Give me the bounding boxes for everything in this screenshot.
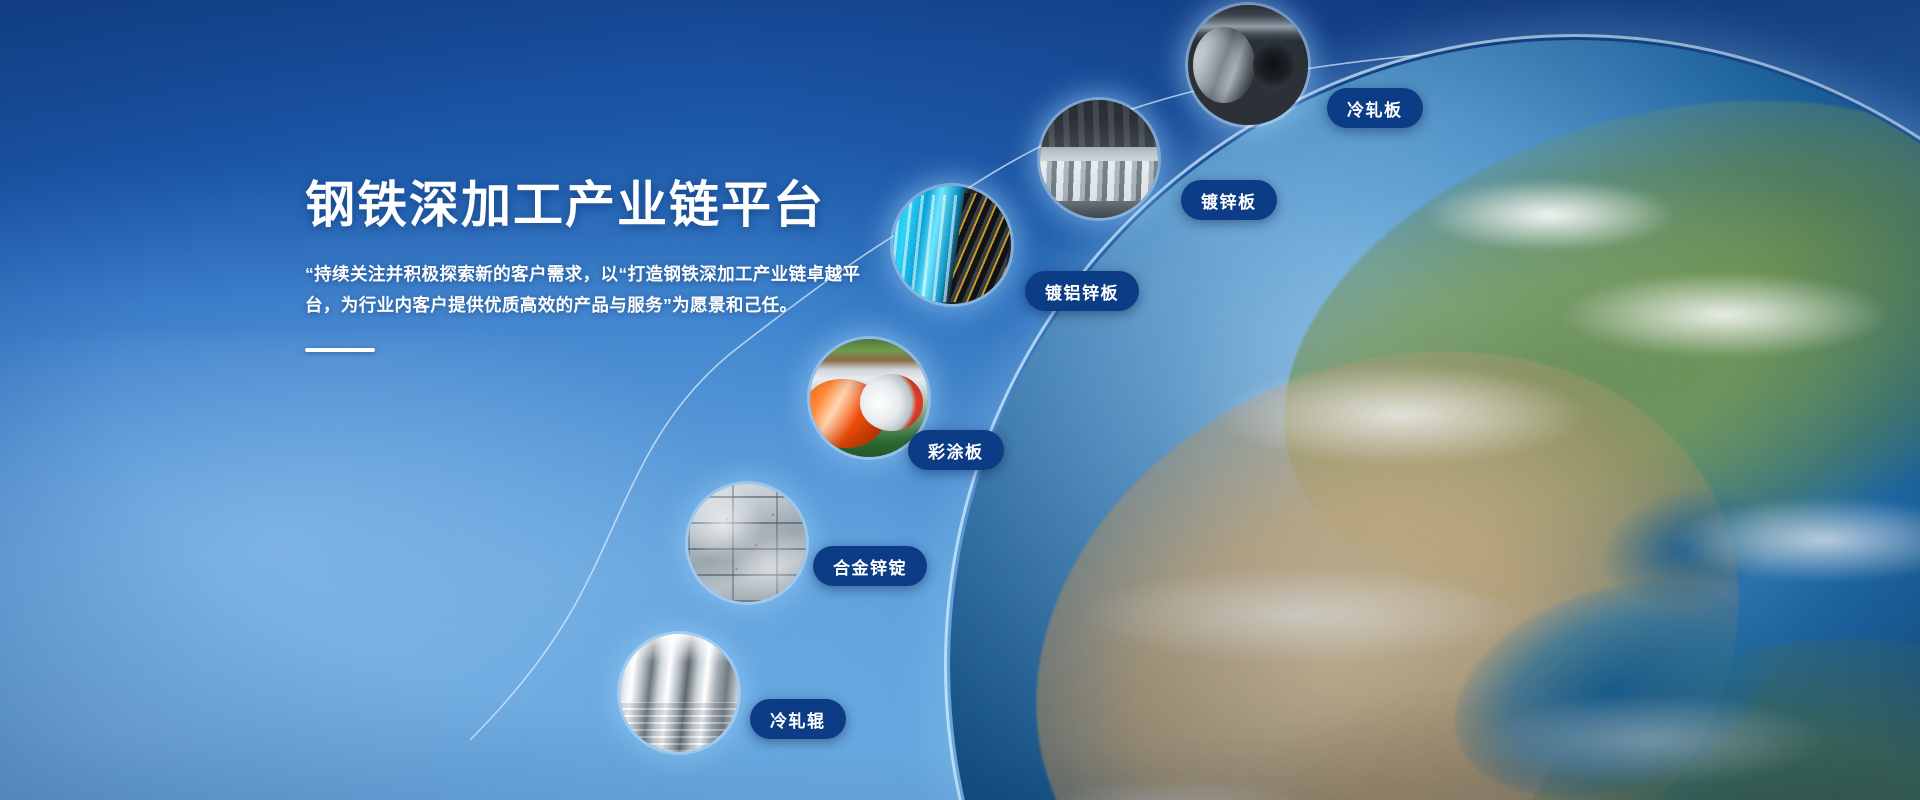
product-label-aluzinc-plate[interactable]: 镀铝锌板 (1025, 271, 1139, 311)
thumbnail-aluzinc-coil[interactable] (893, 186, 1011, 304)
steel-coil-icon (1188, 5, 1308, 125)
thumbnail-steel-coil[interactable] (1188, 5, 1308, 125)
product-label-cold-rolled-plate[interactable]: 冷轧板 (1327, 88, 1423, 128)
page-title: 钢铁深加工产业链平台 (305, 178, 905, 233)
divider-rule (305, 348, 375, 352)
product-label-color-coated-plate[interactable]: 彩涂板 (908, 430, 1004, 470)
zinc-ingot-icon (688, 484, 806, 602)
hero-subtitle: “持续关注并积极探索新的客户需求，以“打造钢铁深加工产业链卓越平台，为行业内客户… (305, 259, 875, 320)
product-label-alloy-zinc-ingot[interactable]: 合金锌锭 (813, 546, 927, 586)
thumbnail-zinc-ingot[interactable] (688, 484, 806, 602)
aluzinc-coil-icon (893, 186, 1011, 304)
hero-banner: 钢铁深加工产业链平台 “持续关注并积极探索新的客户需求，以“打造钢铁深加工产业链… (0, 0, 1920, 800)
hero-copy: 钢铁深加工产业链平台 “持续关注并积极探索新的客户需求，以“打造钢铁深加工产业链… (305, 178, 905, 352)
product-label-galvanized-plate[interactable]: 镀锌板 (1181, 180, 1277, 220)
thumbnail-roll-shaft[interactable] (620, 634, 738, 752)
coil-warehouse-icon (1040, 100, 1158, 218)
product-label-cold-rolling-roll[interactable]: 冷轧辊 (750, 699, 846, 739)
thumbnail-coil-warehouse[interactable] (1040, 100, 1158, 218)
roll-shaft-icon (620, 634, 738, 752)
